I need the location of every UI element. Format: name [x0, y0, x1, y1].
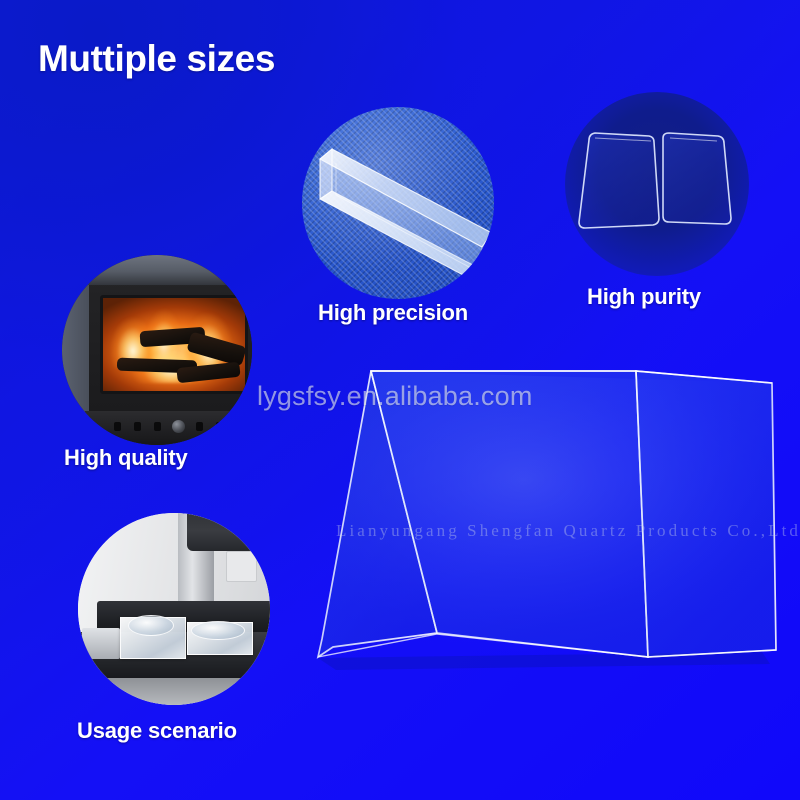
stove-glass-window — [100, 295, 248, 394]
lab-floor — [78, 678, 270, 705]
instrument-head — [187, 513, 270, 551]
product-banner: Muttiple sizes — [0, 0, 800, 800]
feature-image-usage-scenario — [78, 513, 270, 705]
vent-slot — [114, 422, 121, 431]
feature-image-high-precision — [302, 107, 494, 299]
feature-caption-high-precision: High precision — [318, 300, 468, 326]
feature-caption-high-purity: High purity — [587, 284, 701, 310]
bar-end-face — [320, 149, 332, 199]
stove-top-plate — [81, 255, 252, 285]
quartz-plates-illustration — [565, 92, 749, 276]
feature-caption-high-quality: High quality — [64, 445, 188, 471]
stage-clamp — [82, 628, 120, 659]
stove-control-knob — [172, 420, 185, 433]
watermark-url: lygsfsy.en.alibaba.com — [257, 381, 533, 412]
wall-outlet — [226, 551, 257, 582]
feature-image-high-quality — [62, 255, 252, 445]
vent-slot — [216, 422, 223, 431]
quartz-dish-right — [191, 621, 245, 640]
stove-base — [85, 411, 252, 445]
watermark-company: Lianyungang Shengfan Quartz Products Co.… — [336, 521, 800, 541]
vent-slot — [134, 422, 141, 431]
purity-plate-left — [579, 133, 659, 228]
purity-plate-right — [663, 133, 731, 224]
hero-plate-sheen — [318, 371, 776, 657]
vent-slot — [154, 422, 161, 431]
quartz-bar-illustration — [302, 125, 494, 285]
feature-image-high-purity — [565, 92, 749, 276]
vent-slot — [196, 422, 203, 431]
feature-caption-usage-scenario: Usage scenario — [77, 718, 237, 744]
quartz-dish-left — [128, 615, 174, 636]
